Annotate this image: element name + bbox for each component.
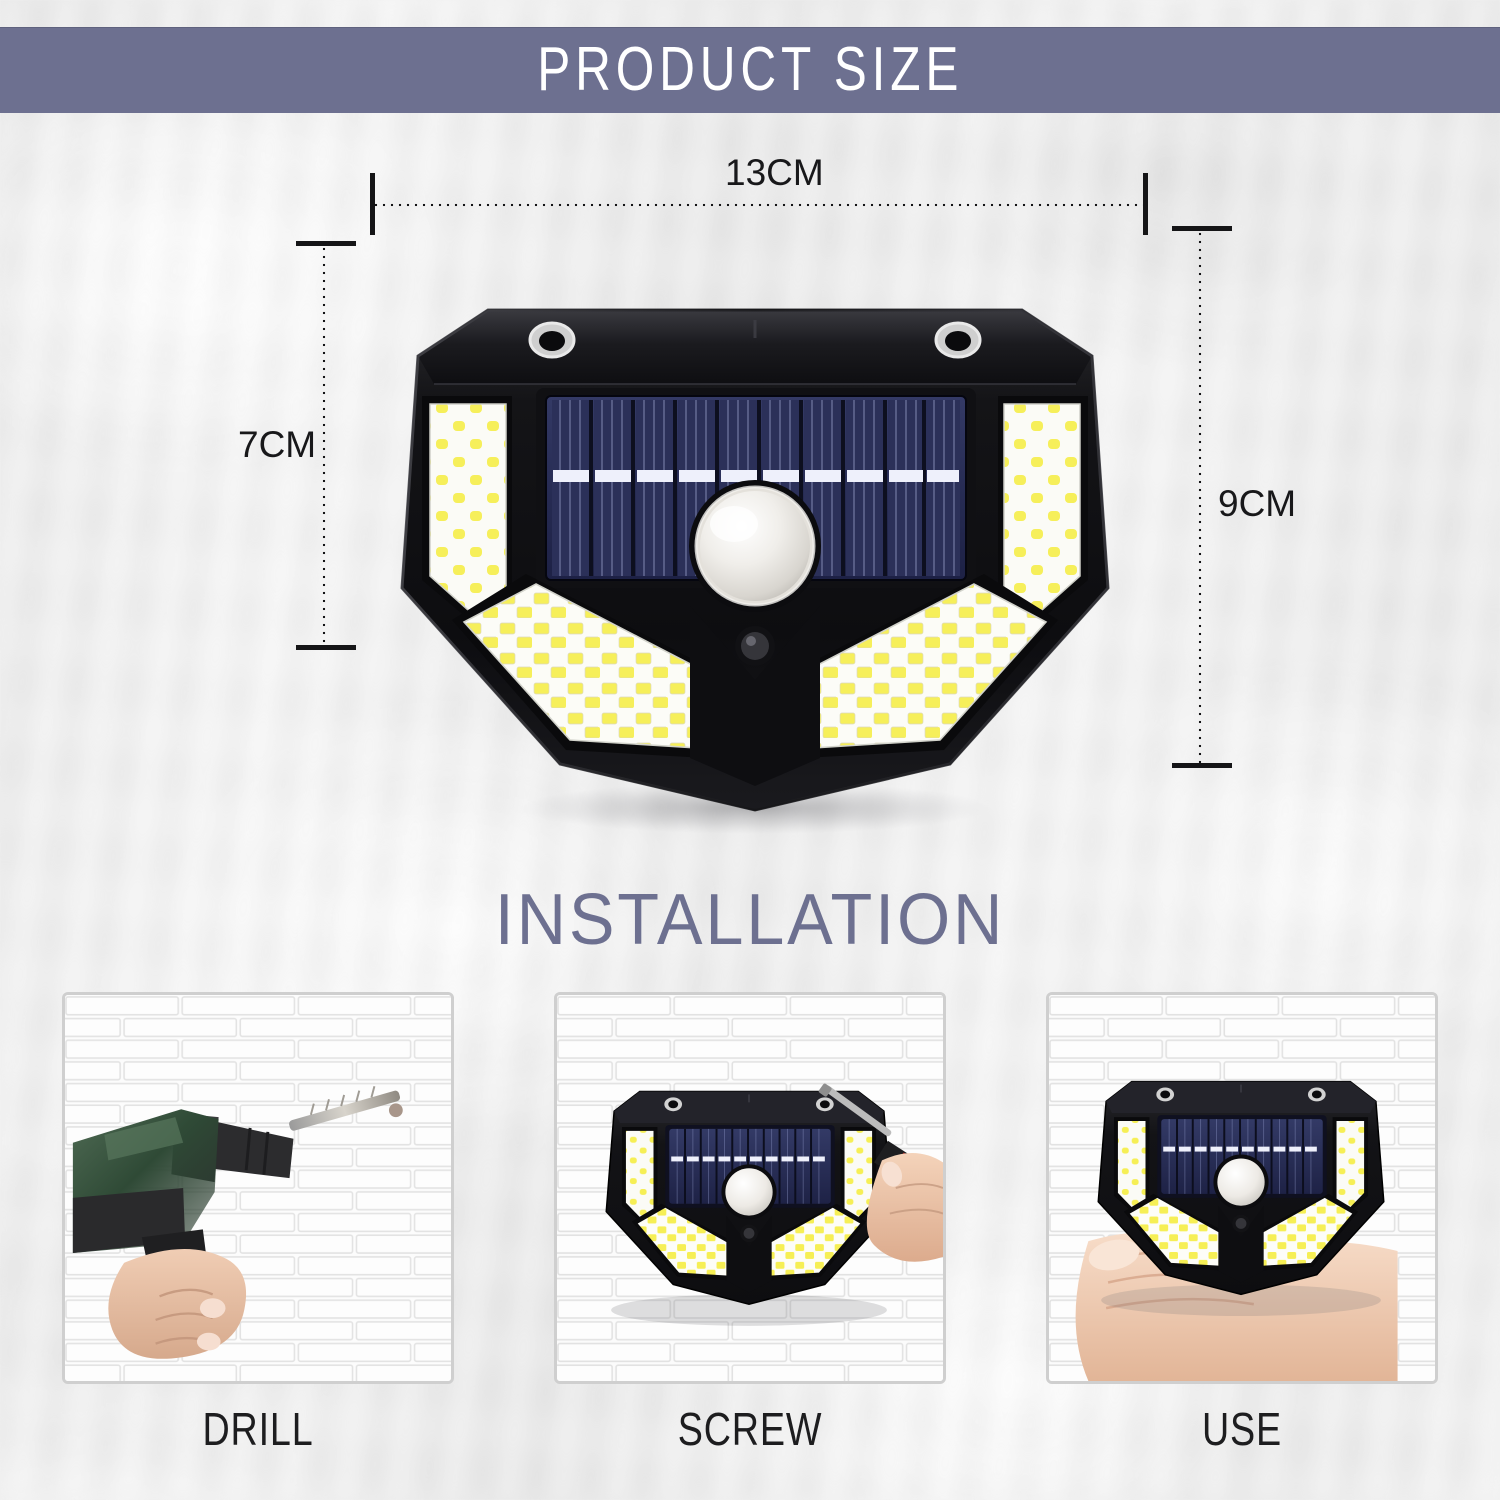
step-image-frame-drill [62,992,454,1384]
brick-wall-background-use [1049,995,1435,1381]
light-sensor [735,626,775,666]
installation-step-screw[interactable] [554,992,946,1384]
brick-wall-background-screw [557,995,943,1381]
overall-height-dimension-line [1198,230,1202,768]
step-image-frame-use [1046,992,1438,1384]
overall-height-dimension-label: 9CM [1218,483,1296,525]
step-caption-use: USE [1081,1406,1402,1452]
step-caption-drill: DRILL [97,1406,418,1452]
overall-height-tick-top [1172,226,1232,231]
width-dimension-label: 13CM [725,152,824,194]
product-size-banner: PRODUCT SIZE [0,27,1500,113]
width-dimension-tick-right [1143,173,1148,235]
installation-title: INSTALLATION [38,884,1463,956]
front-height-tick-bottom [296,645,356,650]
front-height-dimension-label: 7CM [238,424,316,466]
step-caption-screw: SCREW [589,1406,910,1452]
installation-step-drill[interactable] [62,992,454,1384]
brick-wall-background-drill [65,995,451,1381]
step-image-frame-screw [554,992,946,1384]
mounting-hole-right [936,323,980,357]
installation-step-use[interactable] [1046,992,1438,1384]
page-title: PRODUCT SIZE [537,39,963,101]
mounting-hole-left [530,323,574,357]
front-height-tick-top [296,241,356,246]
width-dimension-tick-left [370,173,375,235]
overall-height-tick-bottom [1172,763,1232,768]
pir-motion-sensor [689,480,821,612]
product-image-main [360,288,1150,833]
front-height-dimension-line [322,245,326,647]
width-dimension-line [372,203,1148,207]
